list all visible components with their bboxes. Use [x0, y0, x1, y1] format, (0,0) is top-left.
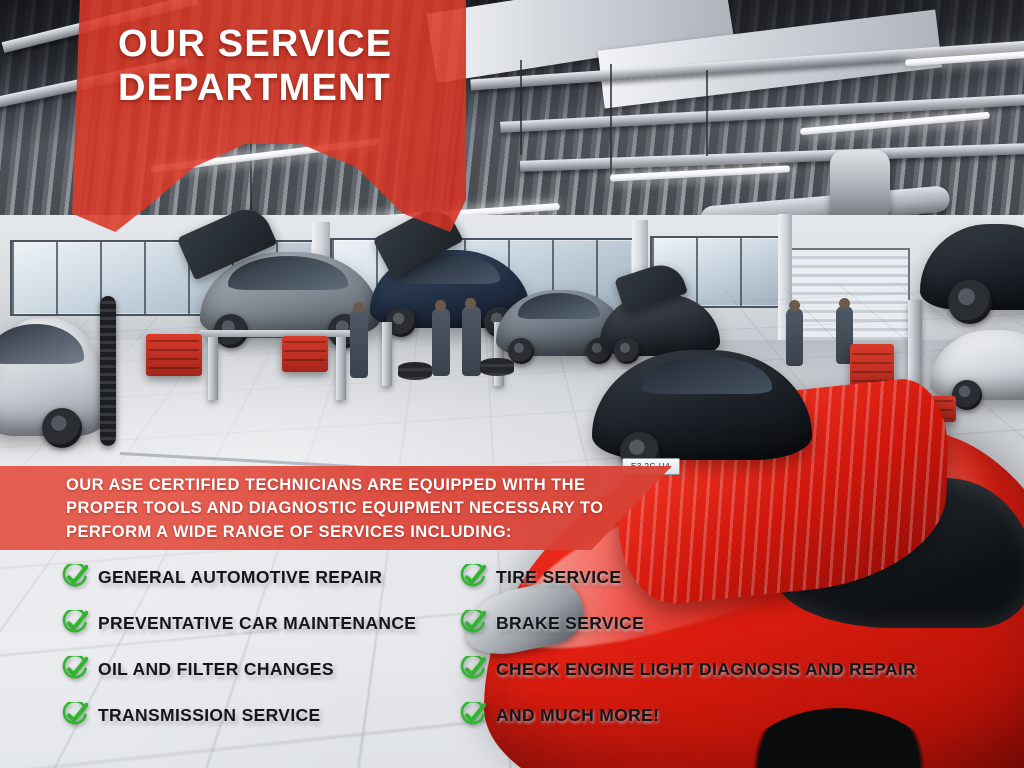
list-item: OIL AND FILTER CHANGES [62, 652, 334, 686]
coiled-exhaust-hose [100, 296, 116, 446]
car-black-suv-on-lift [920, 224, 1024, 310]
list-item: TRANSMISSION SERVICE [62, 698, 321, 732]
subtitle-line-1: OUR ASE CERTIFIED TECHNICIANS ARE EQUIPP… [66, 474, 626, 497]
list-item: AND MUCH MORE! [460, 698, 659, 732]
pendant-wire-3 [706, 70, 708, 156]
car-wheel-front [948, 280, 992, 324]
check-circle-icon [460, 564, 486, 590]
lift-post-3 [382, 322, 392, 386]
lift-arm-1 [198, 330, 358, 337]
check-circle-icon [460, 656, 486, 682]
subtitle-copy: OUR ASE CERTIFIED TECHNICIANS ARE EQUIPP… [66, 474, 626, 544]
tool-cart-2 [282, 336, 328, 372]
service-label: AND MUCH MORE! [496, 705, 659, 726]
car-silver-left [0, 318, 110, 436]
technician-head [839, 298, 850, 309]
service-label: TIRE SERVICE [496, 567, 621, 588]
technician-head [789, 300, 800, 311]
subtitle-line-3: PERFORM A WIDE RANGE OF SERVICES INCLUDI… [66, 521, 626, 544]
services-checklist: GENERAL AUTOMOTIVE REPAIR PREVENTATIVE C… [0, 552, 1024, 752]
lift-post-1 [208, 330, 218, 400]
check-circle-icon [62, 610, 88, 636]
service-label: CHECK ENGINE LIGHT DIAGNOSIS AND REPAIR [496, 659, 916, 680]
pendant-wire-1 [520, 60, 522, 155]
service-label: OIL AND FILTER CHANGES [98, 659, 334, 680]
technician-head [465, 298, 476, 309]
list-item: BRAKE SERVICE [460, 606, 644, 640]
check-circle-icon [62, 564, 88, 590]
car-dark-open-trunk [600, 294, 720, 356]
list-item: PREVENTATIVE CAR MAINTENANCE [62, 606, 416, 640]
page-title: OUR SERVICE DEPARTMENT [118, 22, 448, 110]
air-duct-2 [830, 150, 890, 220]
lift-post-2 [336, 330, 346, 400]
service-label: BRAKE SERVICE [496, 613, 644, 634]
pendant-wire-4 [250, 140, 252, 210]
check-circle-icon [460, 610, 486, 636]
service-label: PREVENTATIVE CAR MAINTENANCE [98, 613, 416, 634]
tire-stack-1 [398, 362, 432, 380]
car-wheel [42, 408, 82, 448]
pendant-wire-2 [610, 64, 612, 174]
subtitle-line-2: PROPER TOOLS AND DIAGNOSTIC EQUIPMENT NE… [66, 497, 626, 520]
technician-head [353, 302, 364, 313]
list-item: GENERAL AUTOMOTIVE REPAIR [62, 560, 382, 594]
technician-head [435, 300, 446, 311]
check-circle-icon [62, 656, 88, 682]
title-line-2: DEPARTMENT [118, 66, 448, 110]
check-circle-icon [460, 702, 486, 728]
service-label: TRANSMISSION SERVICE [98, 705, 321, 726]
technician-1 [350, 310, 368, 378]
list-item: TIRE SERVICE [460, 560, 621, 594]
car-black-mid-right [592, 350, 812, 460]
service-label: GENERAL AUTOMOTIVE REPAIR [98, 567, 382, 588]
service-department-poster: E3 2G UA OUR SERVICE DEPARTMENT OUR ASE … [0, 0, 1024, 768]
check-circle-icon [62, 702, 88, 728]
list-item: CHECK ENGINE LIGHT DIAGNOSIS AND REPAIR [460, 652, 916, 686]
tool-cart-1 [146, 334, 202, 376]
title-line-1: OUR SERVICE [118, 22, 448, 66]
